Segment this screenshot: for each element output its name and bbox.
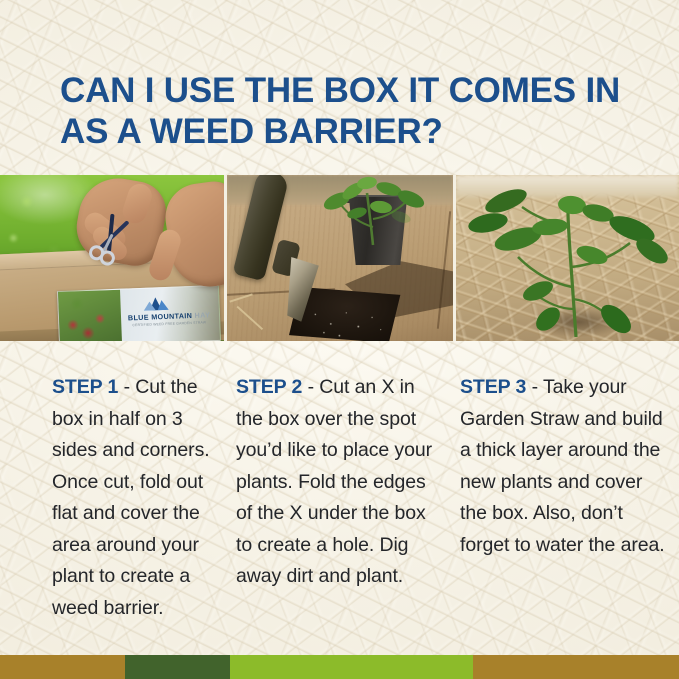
product-label: BLUE MOUNTAIN HAY CERTIFIED WEED FREE GA… bbox=[57, 285, 221, 341]
bar-segment-gold-left bbox=[0, 655, 125, 679]
step-2-separator: - bbox=[302, 376, 319, 398]
step-3-text: STEP 3 - Take your Garden Straw and buil… bbox=[460, 372, 665, 561]
bar-segment-gold-right bbox=[473, 655, 679, 679]
photo-cutting-box-with-scissors: BLUE MOUNTAIN HAY CERTIFIED WEED FREE GA… bbox=[0, 175, 224, 341]
step-3-label: STEP 3 bbox=[460, 376, 526, 398]
photo-strip: BLUE MOUNTAIN HAY CERTIFIED WEED FREE GA… bbox=[0, 175, 679, 341]
step-1-separator: - bbox=[118, 376, 135, 398]
photo-digging-hole-through-cardboard bbox=[227, 175, 453, 341]
step-1-text: STEP 1 - Cut the box in half on 3 sides … bbox=[52, 372, 214, 625]
soil-grit-detail bbox=[305, 303, 391, 341]
page-title-line-2: AS A WEED BARRIER? bbox=[60, 111, 650, 152]
step-column-1: STEP 1 - Cut the box in half on 3 sides … bbox=[0, 372, 228, 625]
steps-row: STEP 1 - Cut the box in half on 3 sides … bbox=[0, 372, 679, 625]
tomato-plant-in-pot bbox=[311, 175, 441, 247]
step-3-separator: - bbox=[526, 376, 543, 398]
step-3-body: Take your Garden Straw and build a thick… bbox=[460, 376, 665, 556]
brand-suffix: HAY bbox=[194, 310, 210, 320]
tomato-seedling bbox=[464, 179, 679, 339]
infographic-card: CAN I USE THE BOX IT COMES IN AS A WEED … bbox=[0, 0, 679, 679]
step-1-label: STEP 1 bbox=[52, 376, 118, 398]
step-2-body: Cut an X in the box over the spot you’d … bbox=[236, 376, 432, 587]
step-1-body: Cut the box in half on 3 sides and corne… bbox=[52, 376, 210, 619]
label-berry-photo bbox=[58, 290, 122, 341]
bottom-color-bar bbox=[0, 655, 679, 679]
mountain-icon bbox=[142, 297, 168, 311]
step-2-text: STEP 2 - Cut an X in the box over the sp… bbox=[236, 372, 436, 593]
page-title: CAN I USE THE BOX IT COMES IN AS A WEED … bbox=[60, 70, 650, 153]
page-title-line-1: CAN I USE THE BOX IT COMES IN bbox=[60, 70, 650, 111]
bar-segment-dark-green bbox=[125, 655, 230, 679]
step-2-label: STEP 2 bbox=[236, 376, 302, 398]
step-column-3: STEP 3 - Take your Garden Straw and buil… bbox=[450, 372, 679, 625]
step-column-2: STEP 2 - Cut an X in the box over the sp… bbox=[228, 372, 450, 625]
bar-segment-light-green bbox=[230, 655, 473, 679]
photo-seedling-in-straw-mulch bbox=[456, 175, 679, 341]
infographic-content: CAN I USE THE BOX IT COMES IN AS A WEED … bbox=[0, 0, 679, 679]
